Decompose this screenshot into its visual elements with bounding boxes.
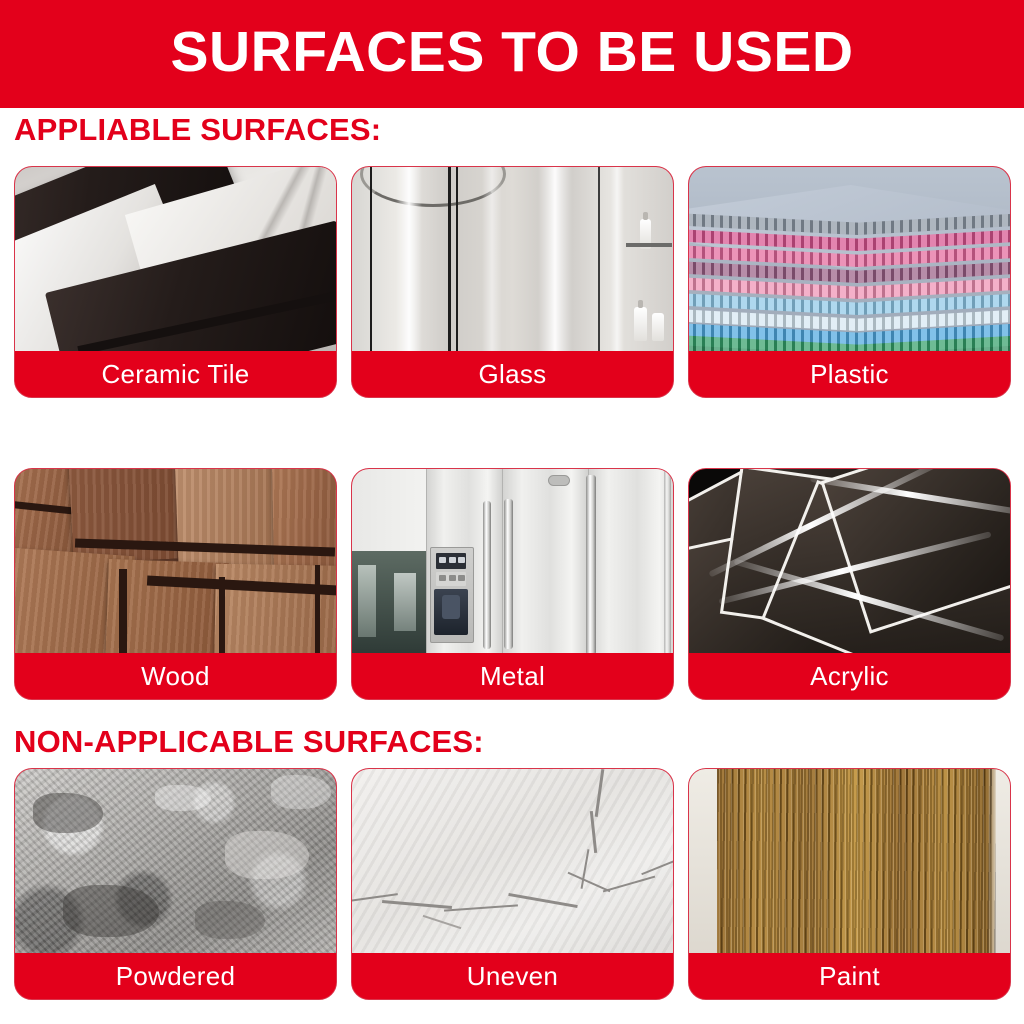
stainless-steel-refrigerator-photo	[352, 469, 673, 655]
glass-shower-photo	[352, 167, 673, 353]
header-banner: SURFACES TO BE USED	[0, 0, 1024, 108]
corrugated-plastic-sheets-photo	[689, 167, 1010, 353]
surface-card-plastic: Plastic	[688, 166, 1011, 398]
wood-planks-photo	[15, 469, 336, 655]
surface-card-glass: Glass	[351, 166, 674, 398]
non-applicable-surfaces-heading: NON-APPLICABLE SURFACES:	[14, 724, 484, 760]
surface-card-label: Ceramic Tile	[15, 351, 336, 397]
surface-card-uneven: Uneven	[351, 768, 674, 1000]
surface-card-label: Uneven	[352, 953, 673, 999]
powdered-concrete-wall-photo	[15, 769, 336, 955]
surface-card-label: Glass	[352, 351, 673, 397]
surface-card-label: Metal	[352, 653, 673, 699]
appliable-surfaces-heading: APPLIABLE SURFACES:	[14, 112, 381, 148]
surface-card-label: Wood	[15, 653, 336, 699]
surface-card-wood: Wood	[14, 468, 337, 700]
cracked-uneven-wall-photo	[352, 769, 673, 955]
surface-card-label: Paint	[689, 953, 1010, 999]
surface-card-paint: Paint	[688, 768, 1011, 1000]
painted-brush-surface-photo	[689, 769, 1010, 955]
surface-card-label: Powdered	[15, 953, 336, 999]
surface-card-powdered: Powdered	[14, 768, 337, 1000]
page-title: SURFACES TO BE USED	[0, 0, 1024, 108]
ceramic-tile-photo	[15, 167, 336, 353]
surface-card-acrylic: Acrylic	[688, 468, 1011, 700]
surface-card-metal: Metal	[351, 468, 674, 700]
acrylic-sheets-photo	[689, 469, 1010, 655]
surface-card-label: Plastic	[689, 351, 1010, 397]
surface-card-ceramic-tile: Ceramic Tile	[14, 166, 337, 398]
surface-card-label: Acrylic	[689, 653, 1010, 699]
